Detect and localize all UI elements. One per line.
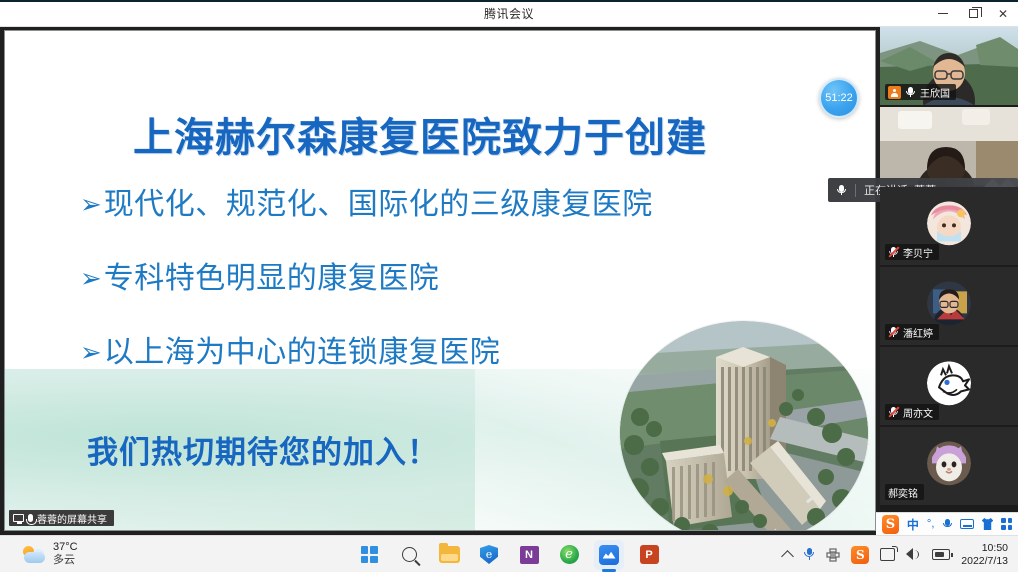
screen-share-label: 蓉蓉的屏幕共享 bbox=[37, 511, 107, 526]
participant-tile[interactable]: 王欣国 bbox=[880, 27, 1018, 105]
taskbar: 37°C 多云 e N e bbox=[0, 535, 1018, 572]
mic-icon bbox=[836, 184, 847, 196]
slide-closing-text: 我们热切期待您的加入！ bbox=[87, 427, 439, 472]
toast-divider bbox=[855, 184, 856, 197]
ime-floating-toolbar[interactable]: S 中 °, bbox=[876, 512, 1018, 535]
bullet-text: 以上海为中心的连锁康复医院 bbox=[104, 337, 501, 369]
participant-tile-active-speaker[interactable] bbox=[880, 107, 1018, 185]
bullet-arrow-icon: ➢ bbox=[80, 263, 102, 293]
close-icon: ✕ bbox=[998, 7, 1008, 21]
hospital-aerial-image bbox=[620, 321, 868, 530]
mic-muted-icon bbox=[888, 326, 899, 338]
slide-title: 上海赫尔森康复医院致力于创建 bbox=[5, 105, 835, 163]
system-tray: S 10:50 2022/7/13 bbox=[783, 536, 1008, 572]
meeting-window: 腾讯会议 ✕ 上海赫尔森康复医院致力于创建 ➢ 现代化、规范化、国际化的三级康复… bbox=[0, 0, 1018, 572]
weather-condition: 多云 bbox=[53, 554, 78, 567]
bullet-text: 现代化、规范化、国际化的三级康复医院 bbox=[104, 189, 653, 221]
search-icon bbox=[402, 547, 417, 562]
voice-input-icon[interactable] bbox=[942, 518, 952, 531]
participant-name-badge: 李贝宁 bbox=[885, 244, 939, 260]
shared-screen-area[interactable]: 上海赫尔森康复医院致力于创建 ➢ 现代化、规范化、国际化的三级康复医院 ➢ 专科… bbox=[0, 27, 880, 535]
volume-icon[interactable] bbox=[906, 548, 921, 561]
mic-muted-icon bbox=[888, 246, 899, 258]
meeting-timer-badge[interactable]: 51:22 bbox=[819, 78, 859, 118]
folder-icon bbox=[439, 546, 460, 563]
battery-icon[interactable] bbox=[932, 549, 950, 560]
windows-logo-icon bbox=[361, 546, 378, 563]
meeting-body: 上海赫尔森康复医院致力于创建 ➢ 现代化、规范化、国际化的三级康复医院 ➢ 专科… bbox=[0, 27, 1018, 535]
presentation-slide: 上海赫尔森康复医院致力于创建 ➢ 现代化、规范化、国际化的三级康复医院 ➢ 专科… bbox=[5, 31, 875, 530]
bullet-arrow-icon: ➢ bbox=[80, 337, 102, 367]
participant-name: 王欣国 bbox=[920, 85, 950, 100]
participant-name: 周亦文 bbox=[903, 405, 933, 420]
sogou-icon[interactable]: S bbox=[851, 546, 869, 564]
participant-name: 李贝宁 bbox=[903, 245, 933, 260]
taskbar-app-buttons: e N e P bbox=[354, 536, 664, 572]
ime-language-mode[interactable]: 中 bbox=[907, 516, 919, 533]
ime-punctuation-toggle[interactable]: °, bbox=[927, 518, 934, 530]
chevron-up-icon[interactable] bbox=[781, 550, 794, 563]
mic-icon bbox=[905, 86, 916, 98]
onenote-button[interactable]: N bbox=[514, 540, 544, 570]
restore-icon bbox=[969, 9, 978, 18]
edge-browser-button[interactable]: e bbox=[474, 540, 504, 570]
file-explorer-button[interactable] bbox=[434, 540, 464, 570]
weather-text: 37°C 多云 bbox=[53, 541, 78, 567]
screen-share-banner: 蓉蓉的屏幕共享 bbox=[9, 510, 114, 526]
bullet-item: ➢ 专科特色明显的康复医院 bbox=[80, 263, 840, 295]
participant-name: 郝奕铭 bbox=[888, 485, 918, 500]
participant-tile[interactable]: 郝奕铭 bbox=[880, 427, 1018, 505]
search-button[interactable] bbox=[394, 540, 424, 570]
participant-name-badge: 王欣国 bbox=[885, 84, 956, 100]
sogou-logo-icon[interactable]: S bbox=[882, 515, 899, 534]
powerpoint-button[interactable]: P bbox=[634, 540, 664, 570]
tencent-meeting-icon bbox=[599, 545, 619, 565]
microphone-icon[interactable] bbox=[803, 547, 815, 562]
participant-tile[interactable]: 潘红婷 bbox=[880, 267, 1018, 345]
participant-tile[interactable]: 李贝宁 bbox=[880, 187, 1018, 265]
edge-icon: e bbox=[480, 545, 498, 564]
clock[interactable]: 10:50 2022/7/13 bbox=[961, 542, 1008, 568]
participant-sidebar[interactable]: 王欣国 bbox=[880, 27, 1018, 535]
window-controls: ✕ bbox=[928, 0, 1018, 27]
clock-time: 10:50 bbox=[961, 542, 1008, 555]
monitor-icon bbox=[13, 514, 24, 522]
avatar bbox=[927, 281, 971, 325]
mic-muted-icon bbox=[888, 406, 899, 418]
skin-icon[interactable] bbox=[982, 518, 994, 530]
title-bar: 腾讯会议 ✕ bbox=[0, 0, 1018, 27]
bullet-text: 专科特色明显的康复医院 bbox=[104, 263, 440, 295]
internet-explorer-button[interactable]: e bbox=[554, 540, 584, 570]
maximize-button[interactable] bbox=[958, 0, 988, 27]
host-icon bbox=[888, 86, 901, 99]
avatar bbox=[927, 441, 971, 485]
participant-name-badge: 郝奕铭 bbox=[885, 484, 924, 500]
window-title: 腾讯会议 bbox=[484, 5, 534, 22]
weather-widget[interactable]: 37°C 多云 bbox=[22, 541, 78, 567]
start-button[interactable] bbox=[354, 540, 384, 570]
keyboard-icon[interactable] bbox=[960, 519, 974, 529]
onenote-icon: N bbox=[520, 546, 539, 564]
network-icon[interactable] bbox=[880, 548, 895, 561]
minimize-icon bbox=[938, 13, 948, 14]
avatar bbox=[927, 201, 971, 245]
participant-tile[interactable]: 周亦文 bbox=[880, 347, 1018, 425]
participant-name-badge: 周亦文 bbox=[885, 404, 939, 420]
shared-screen-frame: 上海赫尔森康复医院致力于创建 ➢ 现代化、规范化、国际化的三级康复医院 ➢ 专科… bbox=[4, 30, 876, 531]
tencent-meeting-button[interactable] bbox=[594, 540, 624, 570]
participant-name: 潘红婷 bbox=[903, 325, 933, 340]
toolbox-icon[interactable] bbox=[1001, 518, 1012, 530]
ime-icon[interactable] bbox=[826, 548, 840, 562]
close-button[interactable]: ✕ bbox=[988, 0, 1018, 27]
bullet-arrow-icon: ➢ bbox=[80, 189, 102, 219]
ie-icon: e bbox=[560, 545, 579, 564]
clock-date: 2022/7/13 bbox=[961, 555, 1008, 568]
avatar bbox=[927, 361, 971, 405]
powerpoint-icon: P bbox=[640, 545, 659, 564]
weather-temperature: 37°C bbox=[53, 541, 78, 554]
mic-icon bbox=[28, 514, 33, 522]
sun-cloud-icon bbox=[22, 545, 46, 564]
minimize-button[interactable] bbox=[928, 0, 958, 27]
participant-name-badge: 潘红婷 bbox=[885, 324, 939, 340]
title-bar-top-edge bbox=[0, 0, 1018, 2]
bullet-item: ➢ 现代化、规范化、国际化的三级康复医院 bbox=[80, 189, 840, 221]
